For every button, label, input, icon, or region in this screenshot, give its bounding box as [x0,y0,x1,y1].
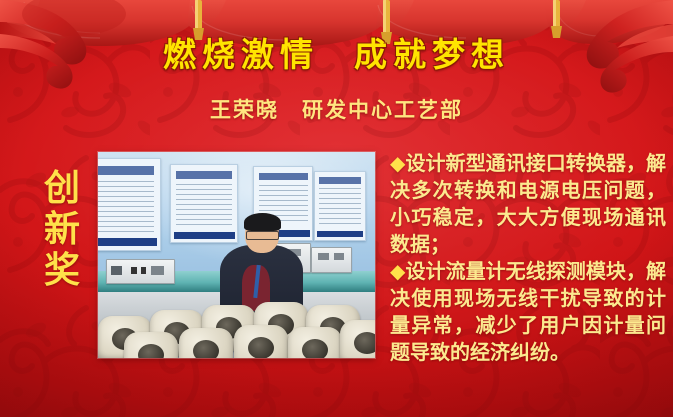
award-label-char-3: 奖 [40,250,84,291]
achievement-text: 设计流量计无线探测模块，解决使用现场无线干扰导致的计量异常，减少了用户因计量问题… [390,259,666,364]
photo-flowmeter [288,327,342,358]
award-label-char-2: 新 [40,209,84,250]
award-label-char-1: 创 [40,168,84,209]
photo-display-board [98,158,161,251]
photo-flowmeter-group [98,290,375,358]
recipient-subtitle: 王荣晓 研发中心工艺部 [0,94,673,124]
page-title: 燃烧激情 成就梦想 [0,28,673,76]
photo-person-glasses [246,231,280,240]
photo-flowmeter [179,328,233,358]
photo-instrument [311,247,352,274]
award-label: 创 新 奖 [40,168,84,291]
award-poster: 燃烧激情 成就梦想 王荣晓 研发中心工艺部 创 新 奖 [0,0,673,417]
achievement-list: ◆设计新型通讯接口转换器，解决多次转换和电源电压问题，小巧稳定，大大方便现场通讯… [390,150,666,366]
achievement-text: 设计新型通讯接口转换器，解决多次转换和电源电压问题，小巧稳定，大大方便现场通讯数… [390,151,666,256]
award-recipient-photo [98,152,375,358]
photo-display-board [170,164,238,242]
photo-person-hair [244,213,281,232]
photo-flowmeter [124,332,178,358]
photo-flowmeter [234,325,288,358]
achievement-item: ◆设计流量计无线探测模块，解决使用现场无线干扰导致的计量异常，减少了用户因计量问… [390,258,666,366]
photo-instrument [106,259,174,284]
photo-display-board [314,171,366,241]
diamond-bullet-icon: ◆ [390,259,405,283]
diamond-bullet-icon: ◆ [390,151,405,175]
photo-flowmeter [340,320,375,358]
achievement-item: ◆设计新型通讯接口转换器，解决多次转换和电源电压问题，小巧稳定，大大方便现场通讯… [390,150,666,258]
